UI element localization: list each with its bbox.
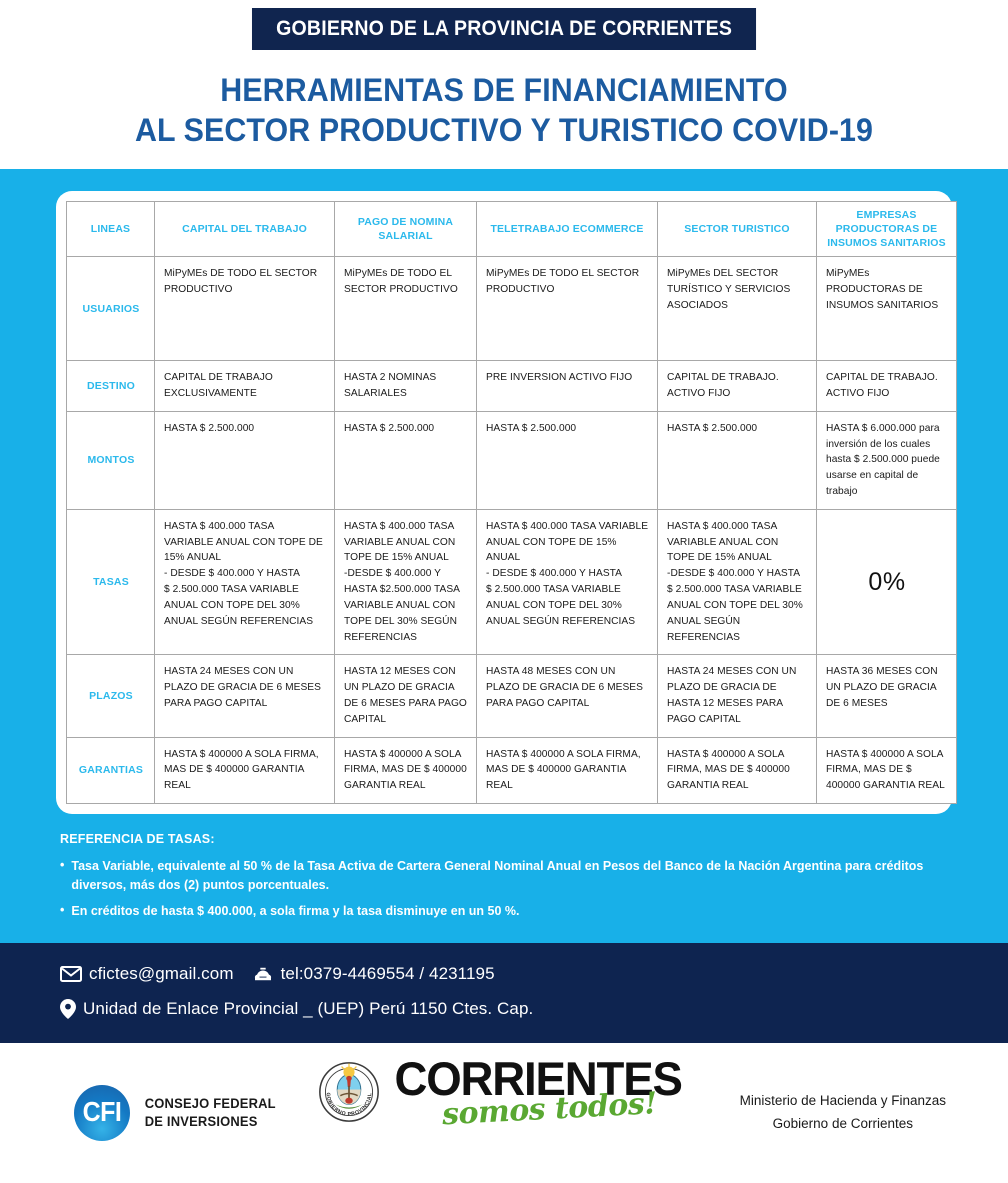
cell-garantias-turistico: HASTA $ 400000 A SOLA FIRMA, MAS DE $ 40… [658, 737, 817, 803]
cell-destino-teletrabajo: PRE INVERSION ACTIVO FIJO [477, 361, 658, 412]
cell-destino-nomina: HASTA 2 NOMINAS SALARIALES [335, 361, 477, 412]
corrientes-wordmark: CORRIENTES somos todos! [390, 1057, 686, 1124]
cell-plazos-capital: HASTA 24 MESES CON UN PLAZO DE GRACIA DE… [155, 655, 335, 737]
reference-item-2: • En créditos de hasta $ 400.000, a sola… [60, 902, 952, 921]
cell-usuarios-capital: MiPyMEs DE TODO EL SECTOR PRODUCTIVO [155, 257, 335, 361]
cell-garantias-capital: HASTA $ 400000 A SOLA FIRMA, MAS DE $ 40… [155, 737, 335, 803]
table-row-destino: DESTINO CAPITAL DE TRABAJO EXCLUSIVAMENT… [67, 361, 957, 412]
ministry-line-1: Ministerio de Hacienda y Finanzas [740, 1090, 946, 1113]
financing-matrix-table: LINEAS CAPITAL DEL TRABAJO PAGO DE NOMIN… [66, 201, 957, 804]
cfi-text-line-2: DE INVERSIONES [145, 1113, 276, 1131]
column-header-sanitarios: EMPRESAS PRODUCTORAS DE INSUMOS SANITARI… [817, 201, 957, 257]
cell-usuarios-teletrabajo: MiPyMEs DE TODO EL SECTOR PRODUCTIVO [477, 257, 658, 361]
reference-item-1: • Tasa Variable, equivalente al 50 % de … [60, 857, 952, 895]
page-title-line-1: HERRAMIENTAS DE FINANCIAMIENTO [25, 70, 983, 110]
contact-email[interactable]: cfictes@gmail.com [89, 958, 234, 990]
cell-montos-sanitarios: HASTA $ 6.000.000 para inversión de los … [817, 411, 957, 509]
corrientes-logo: GOBIERNO PROVINCIAL CORRIENTES somos tod… [318, 1057, 686, 1124]
reference-item-2-text: En créditos de hasta $ 400.000, a sola f… [71, 902, 952, 921]
bullet-icon: • [60, 902, 64, 920]
ministry-credit: Ministerio de Hacienda y Finanzas Gobier… [740, 1090, 946, 1136]
table-row-plazos: PLAZOS HASTA 24 MESES CON UN PLAZO DE GR… [67, 655, 957, 737]
cell-usuarios-sanitarios: MiPyMEs PRODUCTORAS DE INSUMOS SANITARIO… [817, 257, 957, 361]
cfi-circle-mark: CFI [74, 1085, 130, 1141]
government-banner: GOBIERNO DE LA PROVINCIA DE CORRIENTES [252, 8, 756, 50]
cfi-logo: CFI CONSEJO FEDERAL DE INVERSIONES [74, 1085, 279, 1141]
column-header-nomina: PAGO DE NOMINA SALARIAL [335, 201, 477, 257]
column-header-teletrabajo: TELETRABAJO ECOMMERCE [477, 201, 658, 257]
cell-montos-teletrabajo: HASTA $ 2.500.000 [477, 411, 658, 509]
row-label-garantias: GARANTIAS [67, 737, 155, 803]
page-header: GOBIERNO DE LA PROVINCIA DE CORRIENTES H… [0, 0, 1008, 151]
table-row-montos: MONTOS HASTA $ 2.500.000 HASTA $ 2.500.0… [67, 411, 957, 509]
row-label-plazos: PLAZOS [67, 655, 155, 737]
page-title-line-2: AL SECTOR PRODUCTIVO Y TURISTICO COVID-1… [25, 110, 983, 150]
cell-garantias-sanitarios: HASTA $ 400000 A SOLA FIRMA, MAS DE $ 40… [817, 737, 957, 803]
cell-garantias-teletrabajo: HASTA $ 400000 A SOLA FIRMA, MAS DE $ 40… [477, 737, 658, 803]
cell-destino-capital: CAPITAL DE TRABAJO EXCLUSIVAMENTE [155, 361, 335, 412]
table-header-row: LINEAS CAPITAL DEL TRABAJO PAGO DE NOMIN… [67, 201, 957, 257]
table-row-usuarios: USUARIOS MiPyMEs DE TODO EL SECTOR PRODU… [67, 257, 957, 361]
cell-tasas-teletrabajo: HASTA $ 400.000 TASA VARIABLE ANUAL CON … [477, 509, 658, 655]
cell-montos-turistico: HASTA $ 2.500.000 [658, 411, 817, 509]
cfi-logo-text: CONSEJO FEDERAL DE INVERSIONES [145, 1095, 276, 1131]
cell-plazos-sanitarios: HASTA 36 MESES CON UN PLAZO DE GRACIA DE… [817, 655, 957, 737]
cfi-text-line-1: CONSEJO FEDERAL [145, 1095, 276, 1113]
cell-usuarios-turistico: MiPyMEs DEL SECTOR TURÍSTICO Y SERVICIOS… [658, 257, 817, 361]
cell-garantias-nomina: HASTA $ 400000 A SOLA FIRMA, MAS DE $ 40… [335, 737, 477, 803]
cell-plazos-teletrabajo: HASTA 48 MESES CON UN PLAZO DE GRACIA DE… [477, 655, 658, 737]
bullet-icon: • [60, 857, 64, 875]
contact-address: Unidad de Enlace Provincial _ (UEP) Perú… [83, 993, 533, 1025]
row-label-destino: DESTINO [67, 361, 155, 412]
contact-phone[interactable]: tel:0379-4469554 / 4231195 [281, 958, 495, 990]
references-title: REFERENCIA DE TASAS: [60, 832, 952, 846]
cell-plazos-turistico: HASTA 24 MESES CON UN PLAZO DE GRACIA DE… [658, 655, 817, 737]
table-row-tasas: TASAS HASTA $ 400.000 TASA VARIABLE ANUA… [67, 509, 957, 655]
row-label-montos: MONTOS [67, 411, 155, 509]
page-title: HERRAMIENTAS DE FINANCIAMIENTO AL SECTOR… [25, 70, 983, 151]
column-header-capital: CAPITAL DEL TRABAJO [155, 201, 335, 257]
cell-tasas-turistico: HASTA $ 400.000 TASA VARIABLE ANUAL CON … [658, 509, 817, 655]
cell-destino-turistico: CAPITAL DE TRABAJO. ACTIVO FIJO [658, 361, 817, 412]
provincial-seal-icon: GOBIERNO PROVINCIAL [318, 1061, 380, 1123]
email-icon [60, 966, 82, 982]
contact-line-address: Unidad de Enlace Provincial _ (UEP) Perú… [60, 993, 1008, 1025]
column-header-turistico: SECTOR TURISTICO [658, 201, 817, 257]
contact-bar: cfictes@gmail.com tel:0379-4469554 / 423… [0, 943, 1008, 1043]
content-panel: LINEAS CAPITAL DEL TRABAJO PAGO DE NOMIN… [0, 169, 1008, 944]
location-pin-icon [60, 999, 76, 1019]
rate-references-section: REFERENCIA DE TASAS: • Tasa Variable, eq… [0, 814, 1008, 943]
page-footer: CFI CONSEJO FEDERAL DE INVERSIONES [0, 1043, 1008, 1183]
cell-destino-sanitarios: CAPITAL DE TRABAJO. ACTIVO FIJO [817, 361, 957, 412]
cell-tasas-sanitarios: 0% [817, 509, 957, 655]
cell-plazos-nomina: HASTA 12 MESES CON UN PLAZO DE GRACIA DE… [335, 655, 477, 737]
cell-tasas-capital: HASTA $ 400.000 TASA VARIABLE ANUAL CON … [155, 509, 335, 655]
cfi-initials: CFI [83, 1097, 122, 1129]
contact-line-email-phone: cfictes@gmail.com tel:0379-4469554 / 423… [60, 958, 1008, 990]
cell-tasas-nomina: HASTA $ 400.000 TASA VARIABLE ANUAL CON … [335, 509, 477, 655]
column-header-lineas: LINEAS [67, 201, 155, 257]
row-label-usuarios: USUARIOS [67, 257, 155, 361]
financing-table-card: LINEAS CAPITAL DEL TRABAJO PAGO DE NOMIN… [56, 191, 952, 814]
table-row-garantias: GARANTIAS HASTA $ 400000 A SOLA FIRMA, M… [67, 737, 957, 803]
row-label-tasas: TASAS [67, 509, 155, 655]
ministry-line-2: Gobierno de Corrientes [740, 1113, 946, 1136]
reference-item-1-text: Tasa Variable, equivalente al 50 % de la… [71, 857, 952, 895]
cell-usuarios-nomina: MiPyMEs DE TODO EL SECTOR PRODUCTIVO [335, 257, 477, 361]
cell-montos-nomina: HASTA $ 2.500.000 [335, 411, 477, 509]
cell-montos-capital: HASTA $ 2.500.000 [155, 411, 335, 509]
header-spacer [0, 151, 1008, 169]
phone-icon [252, 966, 274, 982]
